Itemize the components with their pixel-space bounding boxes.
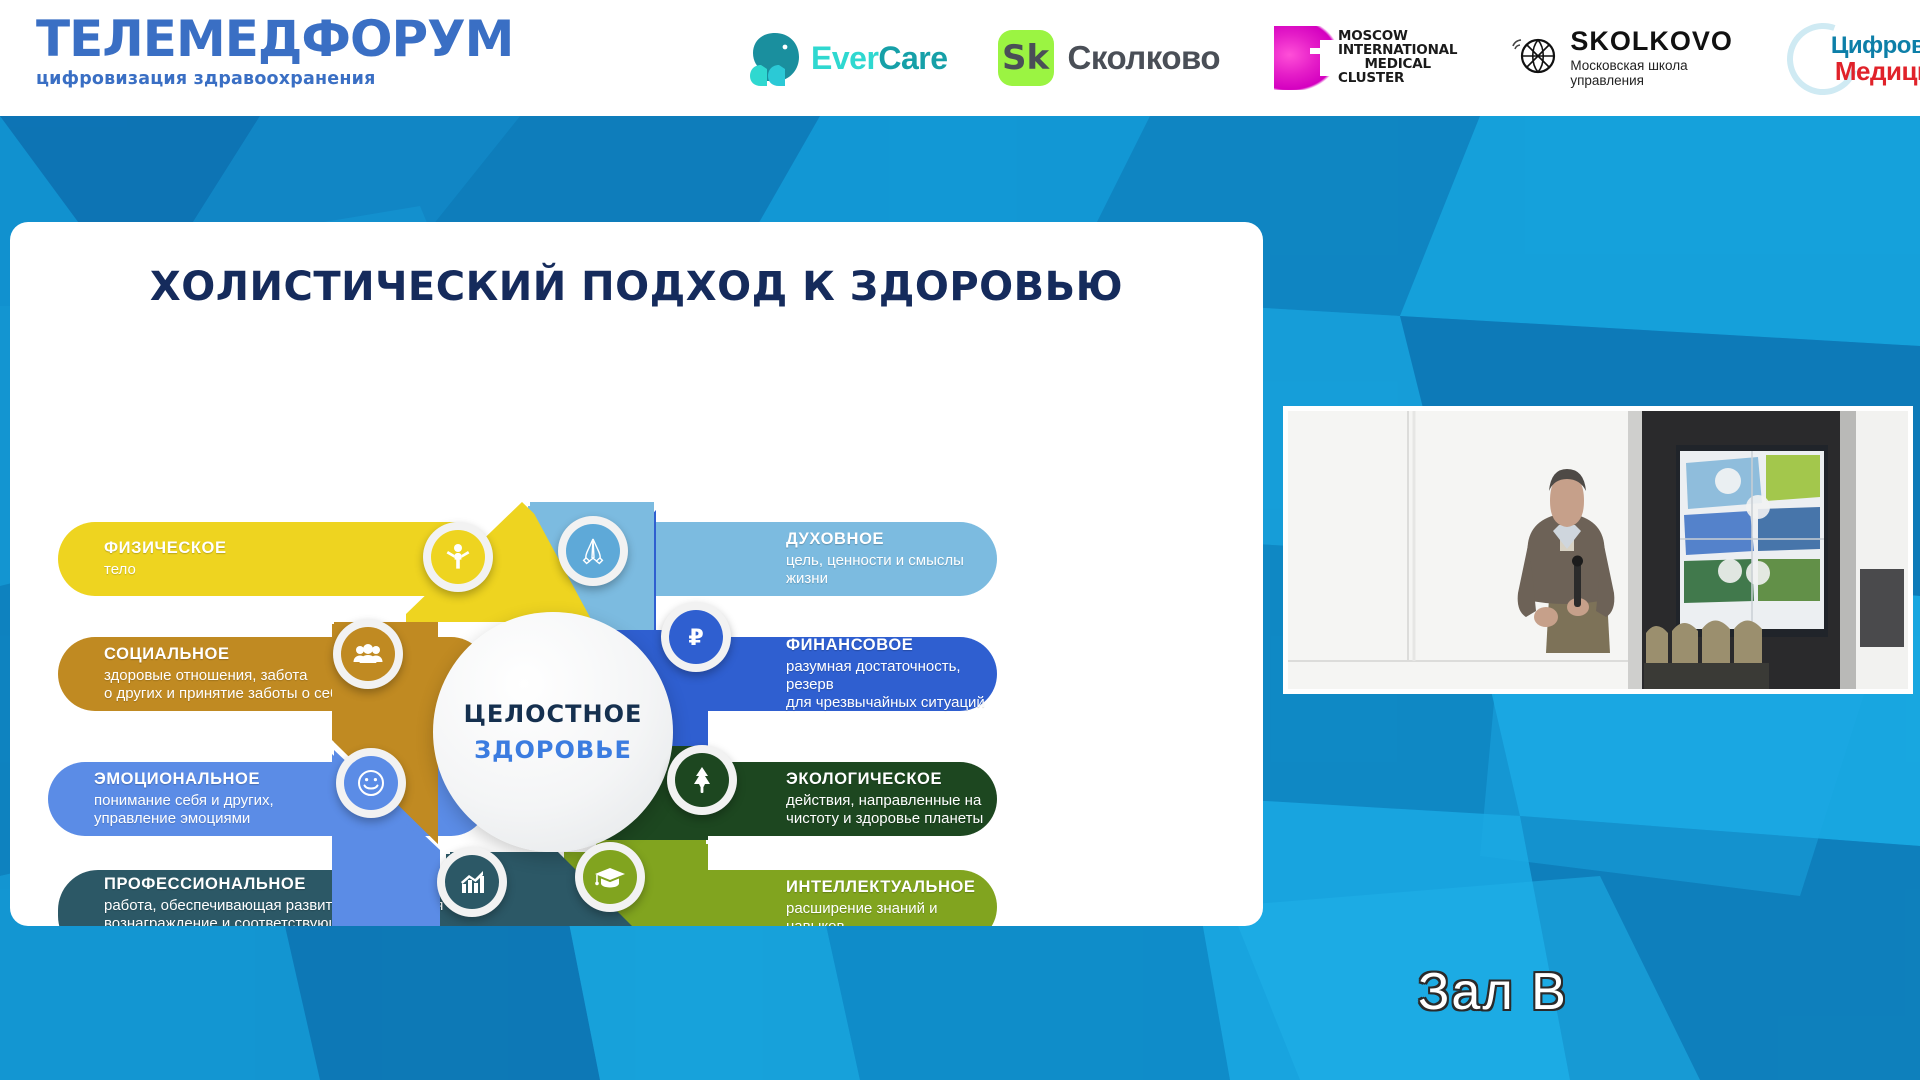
icon-badge-financial: ₽: [661, 602, 731, 672]
sponsor-logo-digital-medicine: Цифровая Медицина: [1785, 18, 1920, 98]
evercare-ever: Ever: [811, 40, 878, 76]
sponsor-logo-evercare: EverCare: [745, 29, 948, 87]
digital-medicine-word-2: Медицина: [1835, 56, 1920, 87]
center-circle: ЦЕЛОСТНОЕ ЗДОРОВЬЕ: [433, 612, 673, 852]
icon-badge-physical: [423, 522, 493, 592]
center-line-1: ЦЕЛОСТНОЕ: [464, 700, 643, 728]
icon-badge-intellectual: [575, 842, 645, 912]
skolkovo-school-sub-1: Московская школа: [1570, 58, 1733, 73]
speaker-video[interactable]: [1288, 411, 1908, 689]
praying-hands-icon: [566, 524, 620, 578]
smiley-face-icon: [344, 756, 398, 810]
brand-subtitle: цифровизация здравоохранения: [36, 69, 513, 89]
icon-badge-spiritual: [558, 516, 628, 586]
slide-title: ХОЛИСТИЧЕСКИЙ ПОДХОД К ЗДОРОВЬЮ: [10, 264, 1263, 310]
sk-badge-icon: Sk: [998, 30, 1054, 86]
ruble-icon: ₽: [669, 610, 723, 664]
skolkovo-school-name: SKOLKOVO: [1570, 28, 1733, 55]
icon-badge-professional: [437, 847, 507, 917]
sponsor-logo-skolkovo-school: SKOLKOVO Московская школа управления: [1509, 28, 1733, 88]
evercare-wordmark: EverCare: [811, 40, 948, 77]
person-arms-up-icon: [431, 530, 485, 584]
sponsor-logo-strip: EverCare Sk Сколково MOSCOW INTERNATIONA…: [745, 0, 1920, 116]
icon-badge-social: [333, 619, 403, 689]
tree-icon: [675, 753, 729, 807]
bird-icon: [745, 29, 807, 87]
bar-chart-icon: [445, 855, 499, 909]
evercare-care: Care: [878, 40, 947, 76]
svg-text:₽: ₽: [688, 626, 703, 651]
skolkovo-wordmark: Сколково: [1068, 39, 1220, 77]
top-header-bar: ТЕЛЕМЕДФОРУМ цифровизация здравоохранени…: [0, 0, 1920, 116]
hall-label: Зал B: [1418, 962, 1568, 1022]
sponsor-logo-mimc: MOSCOW INTERNATIONAL MEDICAL CLUSTER: [1274, 26, 1457, 90]
speaker-video-frame[interactable]: [1283, 406, 1913, 694]
skolkovo-school-sub-2: управления: [1570, 73, 1733, 88]
presentation-slide: ХОЛИСТИЧЕСКИЙ ПОДХОД К ЗДОРОВЬЮ ФИЗИЧЕСК…: [10, 222, 1263, 926]
skolkovo-school-wordmark: SKOLKOVO Московская школа управления: [1570, 28, 1733, 88]
icon-badge-emotional: [336, 748, 406, 818]
icon-badge-ecological: [667, 745, 737, 815]
forum-brand: ТЕЛЕМЕДФОРУМ цифровизация здравоохранени…: [36, 14, 513, 89]
mimc-line-4: CLUSTER: [1338, 72, 1457, 86]
people-group-icon: [341, 627, 395, 681]
brand-title: ТЕЛЕМЕДФОРУМ: [36, 14, 513, 64]
mimc-wordmark: MOSCOW INTERNATIONAL MEDICAL CLUSTER: [1338, 30, 1457, 85]
graduation-cap-icon: [583, 850, 637, 904]
globe-icon: [1509, 32, 1561, 84]
center-line-2: ЗДОРОВЬЕ: [474, 736, 632, 764]
mimc-mark-icon: [1274, 26, 1336, 90]
sponsor-logo-skolkovo: Sk Сколково: [998, 30, 1220, 86]
